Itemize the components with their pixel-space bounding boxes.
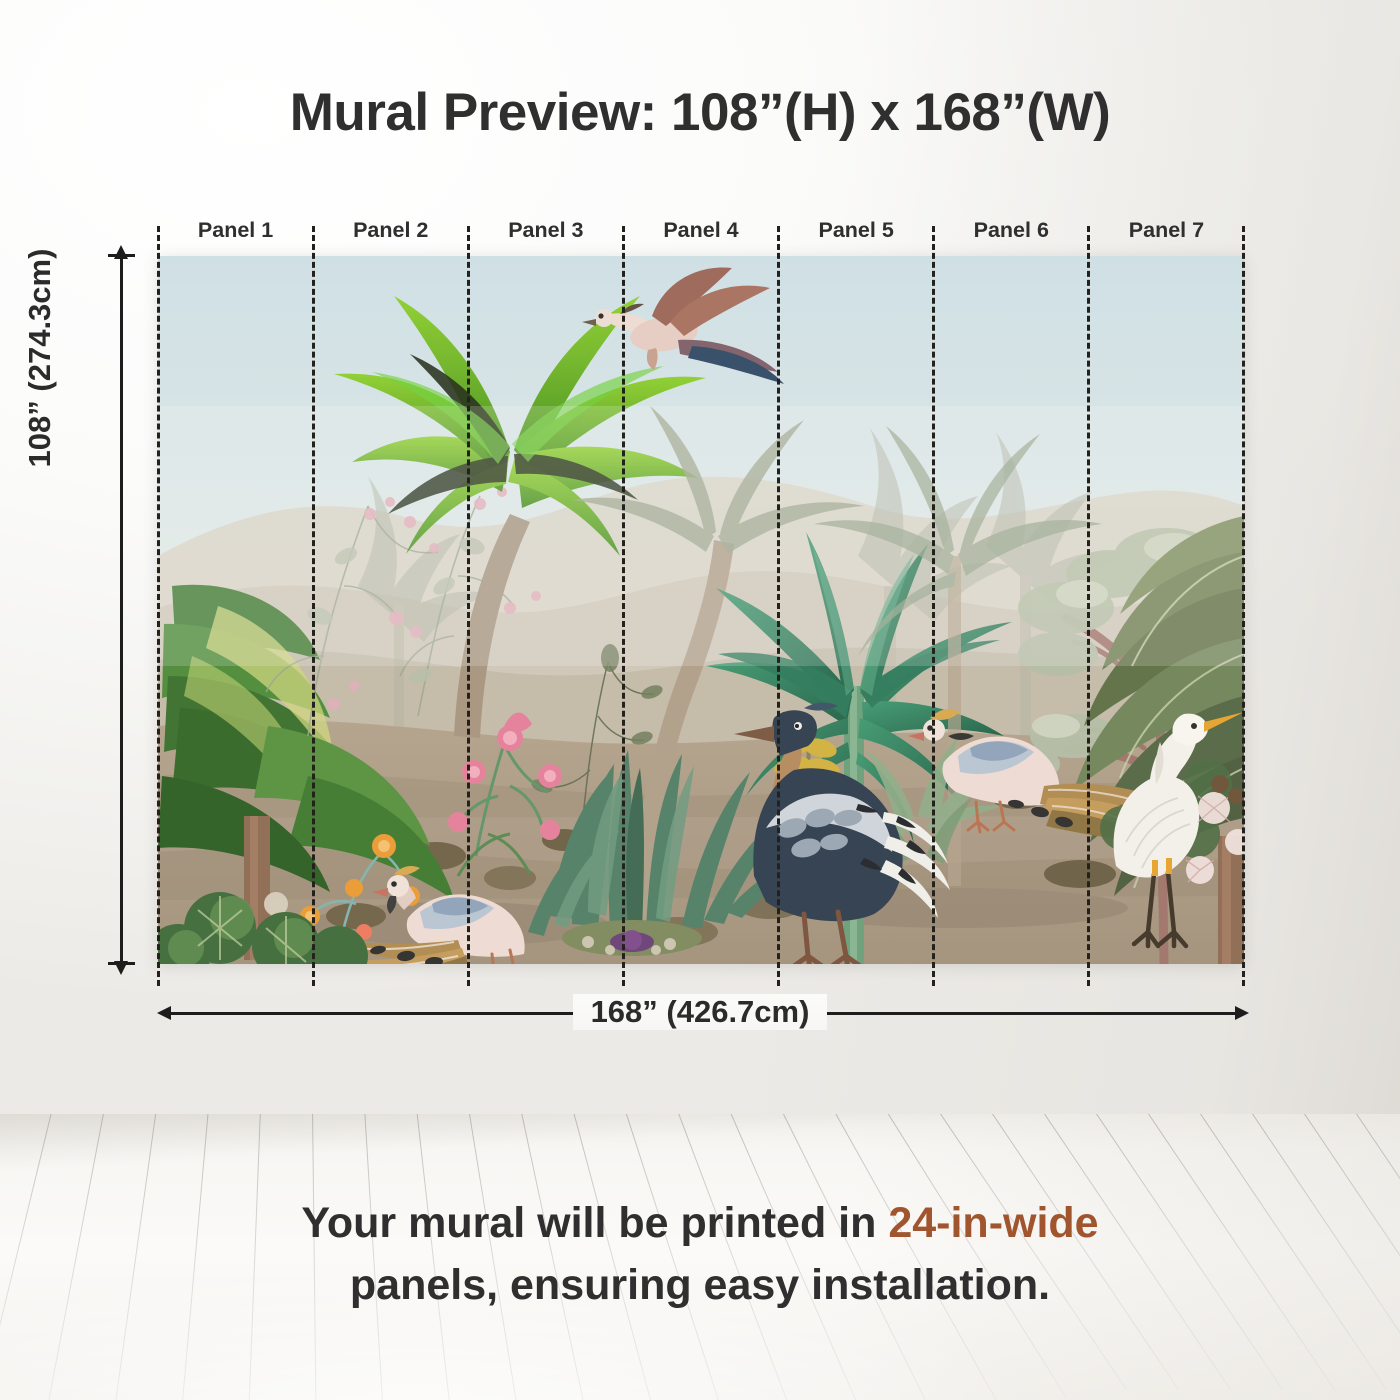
panel-divider-4 xyxy=(777,226,780,986)
height-dimension-line xyxy=(120,256,123,964)
panel-label-2: Panel 2 xyxy=(313,214,468,246)
panel-divider-2 xyxy=(467,226,470,986)
panel-divider-0 xyxy=(157,226,160,986)
height-arrow-down-icon xyxy=(114,961,128,975)
panel-divider-3 xyxy=(622,226,625,986)
height-arrow-up-icon xyxy=(114,245,128,259)
mural-preview-page: Mural Preview: 108”(H) x 168”(W) Panel 1… xyxy=(0,0,1400,1400)
panel-label-7: Panel 7 xyxy=(1089,214,1244,246)
panel-label-6: Panel 6 xyxy=(934,214,1089,246)
caption-line-2: panels, ensuring easy installation. xyxy=(0,1254,1400,1316)
panel-divider-7 xyxy=(1242,226,1245,986)
panel-labels-row: Panel 1 Panel 2 Panel 3 Panel 4 Panel 5 … xyxy=(158,214,1244,246)
panel-label-5: Panel 5 xyxy=(779,214,934,246)
page-title: Mural Preview: 108”(H) x 168”(W) xyxy=(0,82,1400,143)
panel-divider-6 xyxy=(1087,226,1090,986)
caption: Your mural will be printed in 24-in-wide… xyxy=(0,1192,1400,1316)
panel-divider-1 xyxy=(312,226,315,986)
panel-label-4: Panel 4 xyxy=(623,214,778,246)
caption-text-before: Your mural will be printed in xyxy=(301,1199,888,1247)
panel-label-1: Panel 1 xyxy=(158,214,313,246)
width-dimension-label-wrap: 168” (426.7cm) xyxy=(0,1012,1400,1048)
mural-illustration xyxy=(158,256,1244,964)
panel-divider-5 xyxy=(932,226,935,986)
caption-line-1: Your mural will be printed in 24-in-wide xyxy=(0,1192,1400,1254)
mural-artwork xyxy=(158,256,1244,964)
panel-label-3: Panel 3 xyxy=(468,214,623,246)
width-dimension-label: 168” (426.7cm) xyxy=(573,994,828,1030)
caption-highlight: 24-in-wide xyxy=(888,1199,1098,1247)
